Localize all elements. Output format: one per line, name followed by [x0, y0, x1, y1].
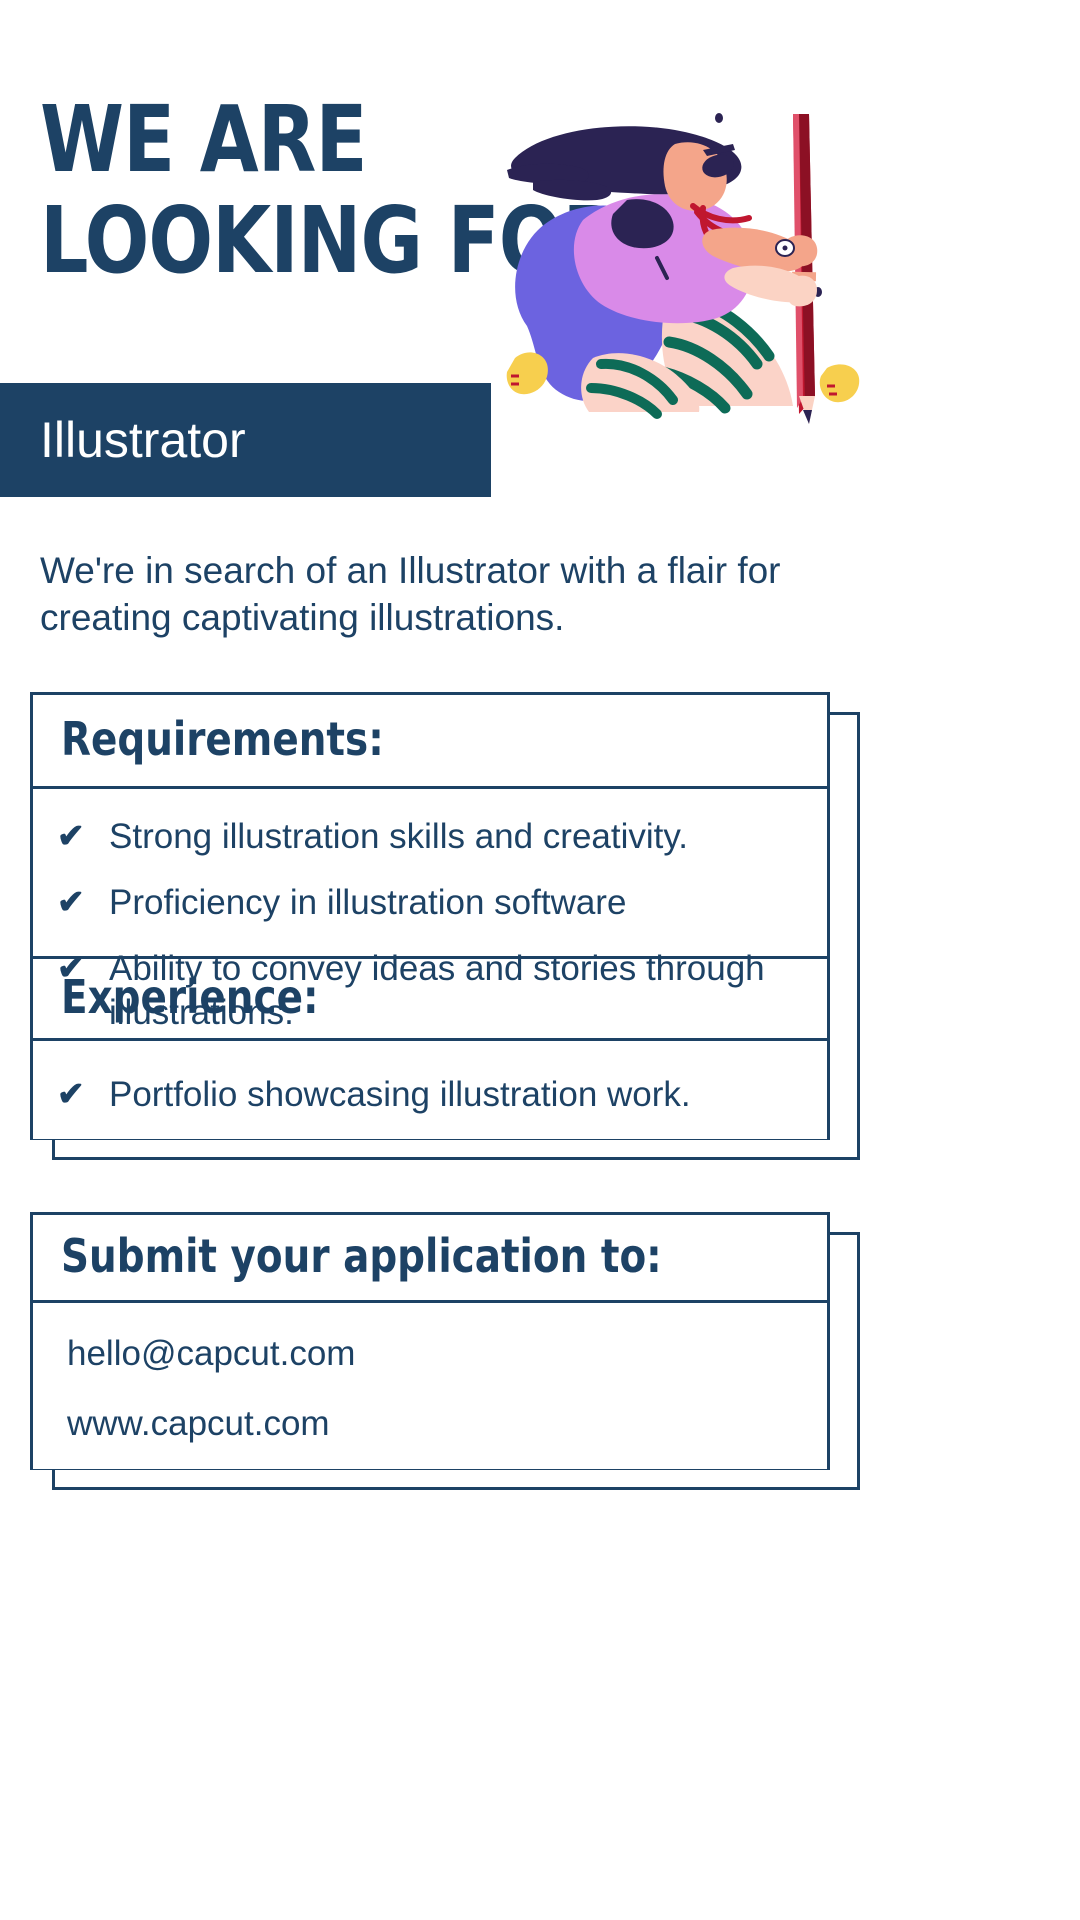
experience-heading: Experience: — [61, 970, 319, 1024]
list-item-label: Proficiency in illustration software — [109, 881, 797, 925]
experience-list-cell: ✔ Portfolio showcasing illustration work… — [33, 1041, 827, 1139]
requirements-card-group: Requirements: ✔ Strong illustration skil… — [30, 692, 860, 1160]
contact-email[interactable]: hello@capcut.com — [67, 1333, 797, 1375]
shoe-right — [820, 364, 859, 402]
list-item-label: Strong illustration skills and creativit… — [109, 815, 797, 859]
list-item-label: Portfolio showcasing illustration work. — [109, 1073, 797, 1117]
requirements-list-cell: ✔ Strong illustration skills and creativ… — [33, 789, 827, 959]
submit-heading-cell: Submit your application to: — [33, 1215, 827, 1303]
shoe-left — [507, 352, 548, 394]
submit-card: Submit your application to: hello@capcut… — [30, 1212, 830, 1470]
requirements-heading: Requirements: — [61, 712, 384, 766]
requirements-card: Requirements: ✔ Strong illustration skil… — [30, 692, 830, 1140]
contact-details-cell: hello@capcut.com www.capcut.com — [33, 1303, 827, 1469]
check-icon: ✔ — [57, 881, 109, 923]
role-title: Illustrator — [0, 411, 246, 469]
list-item: ✔ Strong illustration skills and creativ… — [57, 815, 797, 859]
list-item: ✔ Proficiency in illustration software — [57, 881, 797, 925]
speckle-dot — [715, 113, 723, 123]
illustration-woman-with-pencil — [497, 96, 897, 426]
check-icon: ✔ — [57, 1073, 109, 1115]
requirements-heading-cell: Requirements: — [33, 695, 827, 789]
intro-paragraph: We're in search of an Illustrator with a… — [40, 548, 800, 642]
role-banner: Illustrator — [0, 383, 491, 497]
check-icon: ✔ — [57, 815, 109, 857]
contact-website[interactable]: www.capcut.com — [67, 1403, 797, 1445]
submit-card-group: Submit your application to: hello@capcut… — [30, 1212, 860, 1502]
job-posting-poster: WE ARE LOOKING FOR Illustrator — [0, 0, 1080, 1920]
list-item: ✔ Portfolio showcasing illustration work… — [57, 1073, 797, 1117]
submit-heading: Submit your application to: — [61, 1229, 662, 1283]
